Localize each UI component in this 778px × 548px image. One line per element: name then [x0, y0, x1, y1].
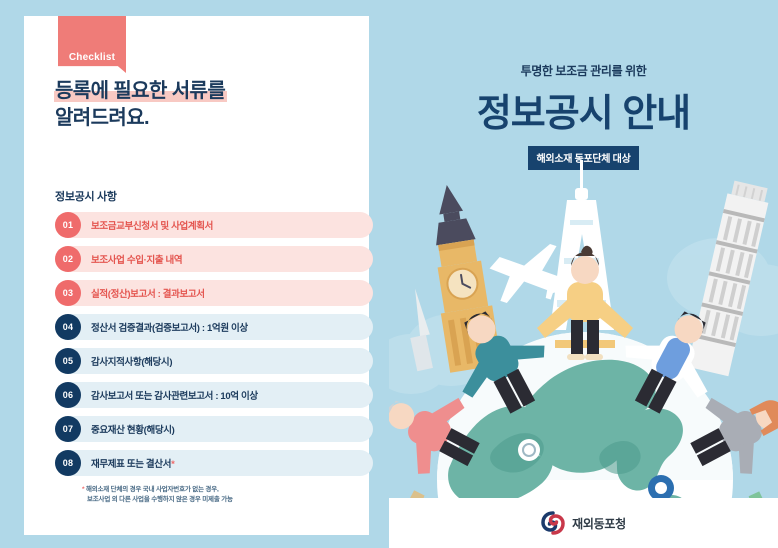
checklist-list: 01보조금교부신청서 및 사업계획서02보조사업 수입·지출 내역03실적(정산… [55, 212, 373, 484]
checklist-number-badge: 04 [55, 314, 81, 340]
footnote-line-2: 보조사업 외 다른 사업을 수행하지 않은 경우 미제출 가능 [82, 495, 362, 505]
poster: Checklist 등록에 필요한 서류를 알려드려요. 정보공시 사항 01보… [0, 0, 778, 548]
section-label: 정보공시 사항 [55, 188, 117, 204]
headline-line-2: 알려드려요. [55, 105, 355, 132]
checklist-number-badge: 03 [55, 280, 81, 306]
checklist-row-06[interactable]: 06감사보고서 또는 감사관련보고서 : 10억 이상 [55, 382, 373, 408]
checklist-number-badge: 01 [55, 212, 81, 238]
footnote-marker: * [82, 486, 84, 493]
checklist-number-badge: 07 [55, 416, 81, 442]
checklist-ribbon [58, 16, 126, 73]
checklist-row-07[interactable]: 07중요재산 현황(해당시) [55, 416, 373, 442]
headline-line-1: 등록에 필요한 서류를 [55, 78, 225, 105]
right-panel: 투명한 보조금 관리를 위한 정보공시 안내 해외소재 동포단체 대상 [389, 0, 778, 548]
checklist-item-label: 중요재산 현황(해당시) [91, 422, 174, 436]
checklist-card: Checklist 등록에 필요한 서류를 알려드려요. 정보공시 사항 01보… [24, 16, 369, 535]
footnote-line-1: * 해외소재 단체의 경우 국내 사업자번호가 없는 경우, [82, 485, 362, 495]
main-title: 정보공시 안내 [389, 92, 778, 136]
page-title: 등록에 필요한 서류를 알려드려요. [55, 78, 355, 132]
kicker-text: 투명한 보조금 관리를 위한 [389, 62, 778, 79]
agency-footer: 재외동포청 [389, 498, 778, 548]
checklist-item-label: 보조금교부신청서 및 사업계획서 [91, 218, 213, 232]
checklist-row-04[interactable]: 04정산서 검증결과(검증보고서) : 1억원 이상 [55, 314, 373, 340]
agency-name: 재외동포청 [572, 515, 626, 532]
checklist-row-05[interactable]: 05감사지적사항(해당시) [55, 348, 373, 374]
checklist-row-01[interactable]: 01보조금교부신청서 및 사업계획서 [55, 212, 373, 238]
checklist-item-label: 감사보고서 또는 감사관련보고서 : 10억 이상 [91, 388, 258, 402]
checklist-item-label: 실적(정산)보고서 : 결과보고서 [91, 286, 205, 300]
checklist-number-badge: 08 [55, 450, 81, 476]
checklist-number-badge: 02 [55, 246, 81, 272]
checklist-number-badge: 06 [55, 382, 81, 408]
checklist-number-badge: 05 [55, 348, 81, 374]
checklist-row-08[interactable]: 08재무제표 또는 결산서* [55, 450, 373, 476]
checklist-row-02[interactable]: 02보조사업 수입·지출 내역 [55, 246, 373, 272]
korean-government-taegeuk-logo [541, 511, 565, 535]
checklist-item-asterisk: * [171, 459, 174, 470]
checklist-item-label: 재무제표 또는 결산서* [91, 456, 174, 470]
checklist-item-label: 감사지적사항(해당시) [91, 354, 172, 368]
checklist-ribbon-label: Checklist [58, 52, 126, 63]
checklist-item-label: 정산서 검증결과(검증보고서) : 1억원 이상 [91, 320, 248, 334]
left-panel: Checklist 등록에 필요한 서류를 알려드려요. 정보공시 사항 01보… [0, 0, 389, 548]
footnote-text-1: 해외소재 단체의 경우 국내 사업자번호가 없는 경우, [86, 486, 219, 493]
footnote: * 해외소재 단체의 경우 국내 사업자번호가 없는 경우, 보조사업 외 다른… [82, 485, 362, 505]
globe-illustration [389, 150, 778, 510]
checklist-row-03[interactable]: 03실적(정산)보고서 : 결과보고서 [55, 280, 373, 306]
checklist-item-label: 보조사업 수입·지출 내역 [91, 252, 182, 266]
